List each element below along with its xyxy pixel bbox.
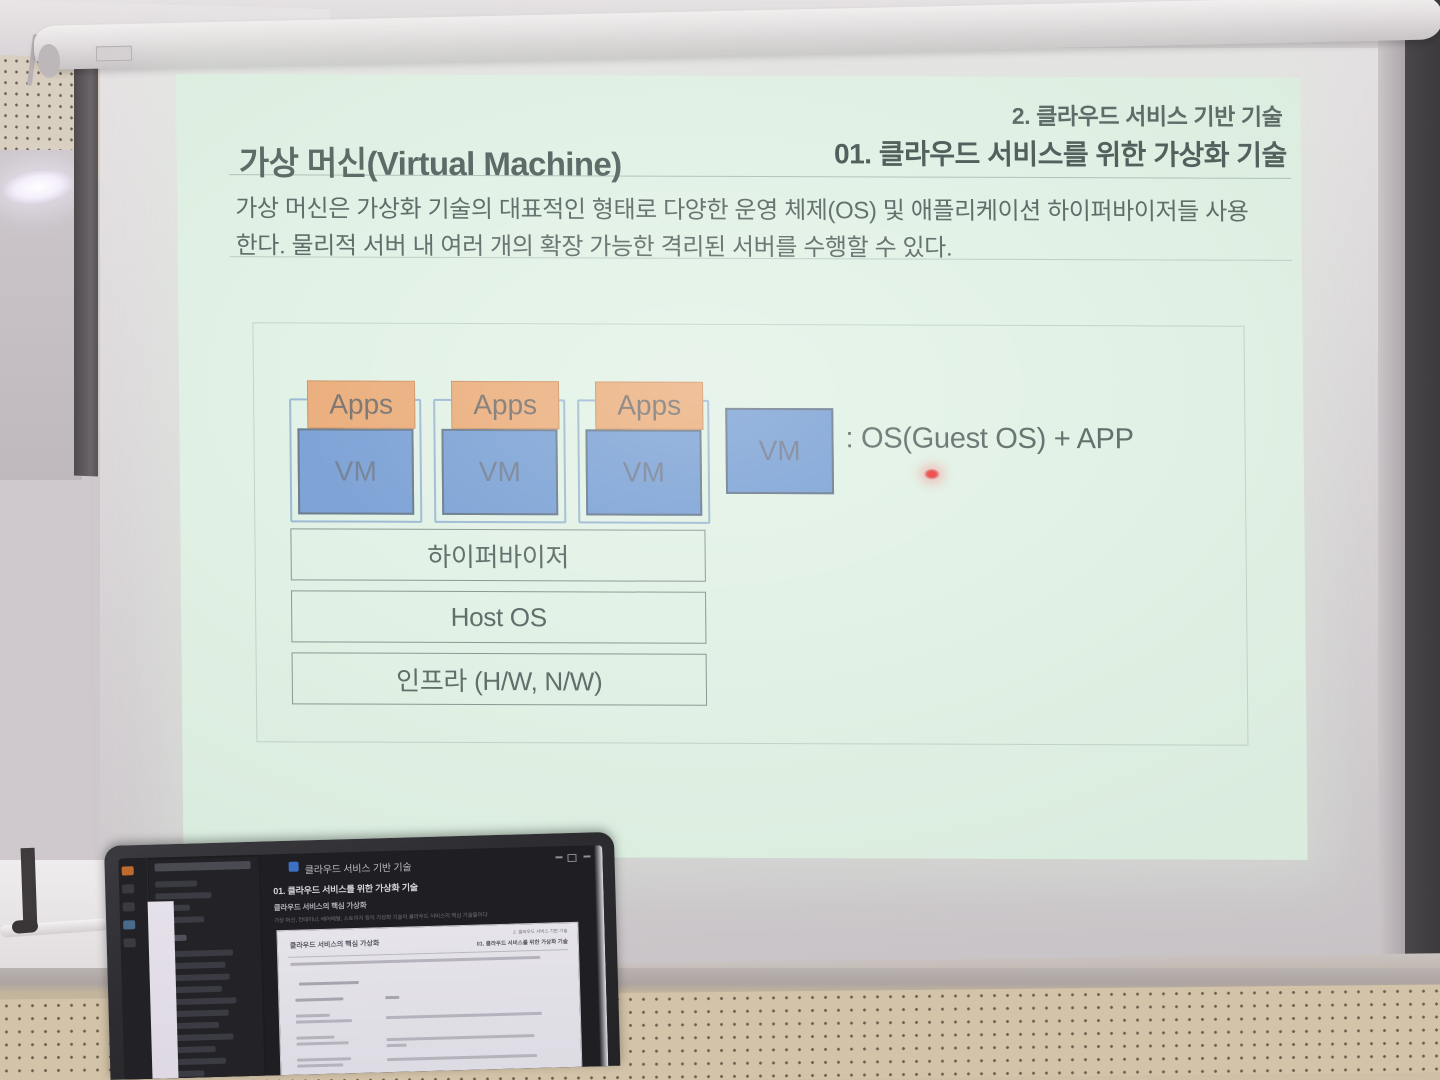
doc-table-header — [385, 996, 399, 999]
apps-box: Apps — [451, 381, 559, 429]
classroom-photo-scene: 2. 클라우드 서비스 기반 기술 01. 클라우드 서비스를 위한 가상화 기… — [0, 0, 1440, 1080]
apps-box: Apps — [595, 381, 703, 429]
legend-text: : OS(Guest OS) + APP — [845, 422, 1133, 456]
doc-section-label — [299, 981, 359, 986]
minimize-icon[interactable] — [555, 856, 562, 858]
slide-title: 가상 머신(Virtual Machine) — [239, 136, 622, 185]
whiteboard-marker — [12, 919, 39, 934]
slide-header-line2: 01. 클라우드 서비스를 위한 가상화 기술 — [834, 132, 1287, 174]
projected-slide: 2. 클라우드 서비스 기반 기술 01. 클라우드 서비스를 위한 가상화 기… — [176, 74, 1308, 860]
rail-icon-3[interactable] — [123, 902, 135, 911]
doc-text-line — [290, 956, 540, 966]
stack-row-host-os: Host OS — [291, 590, 707, 643]
close-icon[interactable] — [583, 855, 590, 857]
vm-group-1: Apps VM — [289, 380, 418, 518]
doc-table-cell — [297, 1041, 349, 1045]
page-subheading: 클라우드 서비스의 핵심 가상화 — [274, 900, 367, 914]
doc-table-cell — [296, 1019, 352, 1024]
app-title: 클라우드 서비스 기반 기술 — [305, 858, 412, 876]
page-paragraph: 가상 머신, 컨테이너, 베어메탈, 스토리지 등의 가상화 기술이 클라우드 … — [274, 910, 488, 924]
maximize-icon[interactable] — [567, 854, 576, 862]
vm-box: VM — [297, 428, 414, 514]
laser-pointer-dot — [924, 469, 940, 480]
vm-box: VM — [441, 429, 558, 515]
rail-icon-4[interactable] — [123, 920, 135, 929]
doc-table-cell — [386, 1034, 534, 1041]
whiteboard-frame — [21, 848, 38, 930]
document-preview[interactable]: 클라우드 서비스의 핵심 가상화 2. 클라우드 서비스 기반 기술 01. 클… — [276, 922, 582, 1080]
roller-bracket — [96, 46, 132, 62]
wall-right-dark-strip — [1405, 0, 1440, 1080]
laptop-screen[interactable]: 클라우드 서비스 기반 기술 01. 클라우드 서비스를 위한 가상화 기술 클… — [118, 845, 608, 1079]
doc-table-cell — [296, 1036, 334, 1040]
doc-table-cell — [387, 1044, 407, 1048]
doc-table-cell — [297, 1057, 351, 1062]
laptop: 클라우드 서비스 기반 기술 01. 클라우드 서비스를 위한 가상화 기술 클… — [104, 832, 620, 1080]
rail-icon-2[interactable] — [122, 884, 134, 893]
doc-table-cell — [387, 1054, 537, 1061]
app-logo-icon — [289, 862, 299, 872]
wall-pillar — [74, 55, 98, 476]
file-list-item[interactable] — [155, 892, 211, 900]
app-icon-rail[interactable] — [118, 858, 153, 1080]
rail-icon-5[interactable] — [124, 938, 136, 947]
vm-box: VM — [585, 429, 702, 515]
vm-group-3: Apps VM — [577, 381, 706, 519]
doc-header-line2: 01. 클라우드 서비스를 위한 가상화 기술 — [477, 937, 568, 948]
stack-row-hypervisor: 하이퍼바이저 — [290, 528, 706, 581]
page-heading: 01. 클라우드 서비스를 위한 가상화 기술 — [273, 880, 418, 897]
vm-architecture-diagram: Apps VM Apps VM Apps VM VM : OS(Guest OS… — [289, 362, 1192, 695]
secondary-window-strip — [148, 901, 179, 1079]
apps-box: Apps — [307, 380, 415, 428]
doc-header-line1: 2. 클라우드 서비스 기반 기술 — [513, 928, 567, 936]
wall-right-edge — [1378, 0, 1408, 1080]
doc-table-header — [295, 997, 343, 1001]
legend-vm-box: VM — [725, 408, 834, 494]
stack-row-infrastructure: 인프라 (H/W, N/W) — [292, 652, 708, 705]
doc-table-cell — [297, 1063, 343, 1067]
file-panel-title — [155, 861, 251, 872]
slide-header-line1: 2. 클라우드 서비스 기반 기술 — [1012, 97, 1283, 132]
rail-icon-1[interactable] — [122, 866, 134, 875]
doc-title: 클라우드 서비스의 핵심 가상화 — [290, 938, 380, 950]
file-list-item[interactable] — [155, 880, 197, 887]
app-main-area[interactable]: 클라우드 서비스 기반 기술 01. 클라우드 서비스를 위한 가상화 기술 클… — [260, 845, 608, 1075]
doc-table-cell — [386, 1012, 542, 1019]
whiteboard — [0, 860, 114, 968]
vm-group-2: Apps VM — [433, 381, 562, 519]
doc-table-cell — [296, 1014, 330, 1018]
